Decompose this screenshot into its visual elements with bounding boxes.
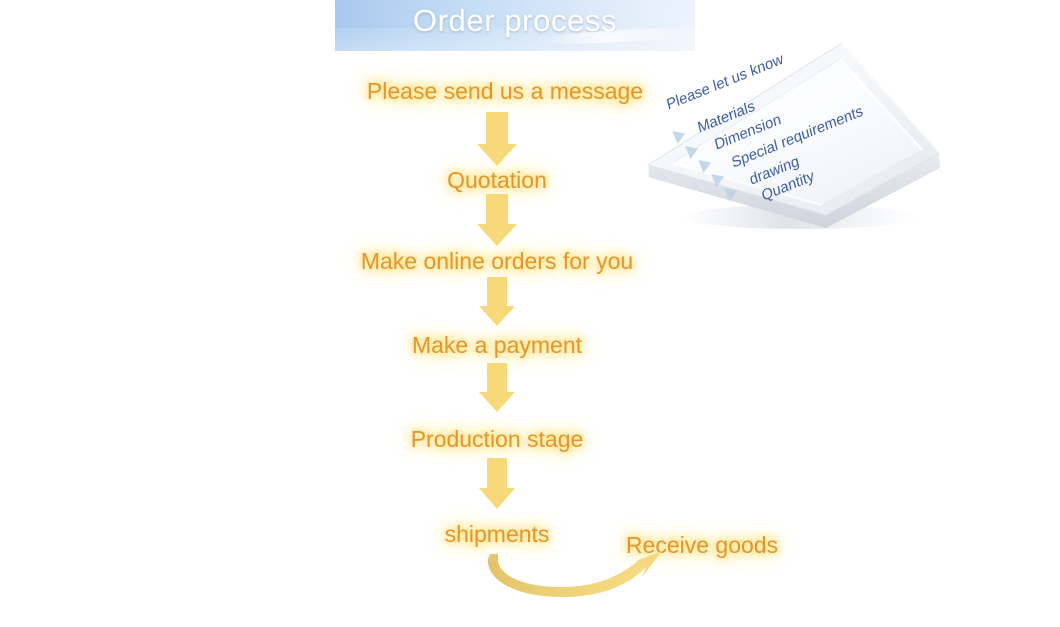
arrow-head [479,306,515,326]
flow-step-shipments: shipments [445,521,550,548]
arrow-shaft [486,194,508,224]
flow-step-quotation: Quotation [447,167,547,194]
arrow-payment-to-production-icon [477,363,517,413]
arrow-shaft [487,363,507,392]
arrow-head [477,144,517,166]
arrow-head [479,392,515,412]
requirements-tablet-illustration: Please let us know Materials Dimension S… [640,35,950,235]
flow-step-production-stage: Production stage [411,426,584,453]
arrow-shaft [486,112,508,144]
arrow-head [479,488,515,509]
arrow-shaft [487,277,507,306]
flow-step-make-online-orders: Make online orders for you [361,248,633,275]
page-title: Order process [335,3,695,39]
curved-arrow-svg [470,545,680,615]
flow-step-make-a-payment: Make a payment [412,332,582,359]
arrow-head [477,224,517,246]
tablet-frame-svg [640,35,950,235]
arrow-quotation-to-orders-icon [475,194,519,246]
curved-arrow-shipments-to-receive-goods-icon [470,545,680,615]
arrow-shaft [487,458,507,488]
arrow-orders-to-payment-icon [477,277,517,327]
arrow-message-to-quotation-icon [475,112,519,166]
flow-step-send-message: Please send us a message [367,78,643,105]
arrow-production-to-shipments-icon [477,458,517,510]
